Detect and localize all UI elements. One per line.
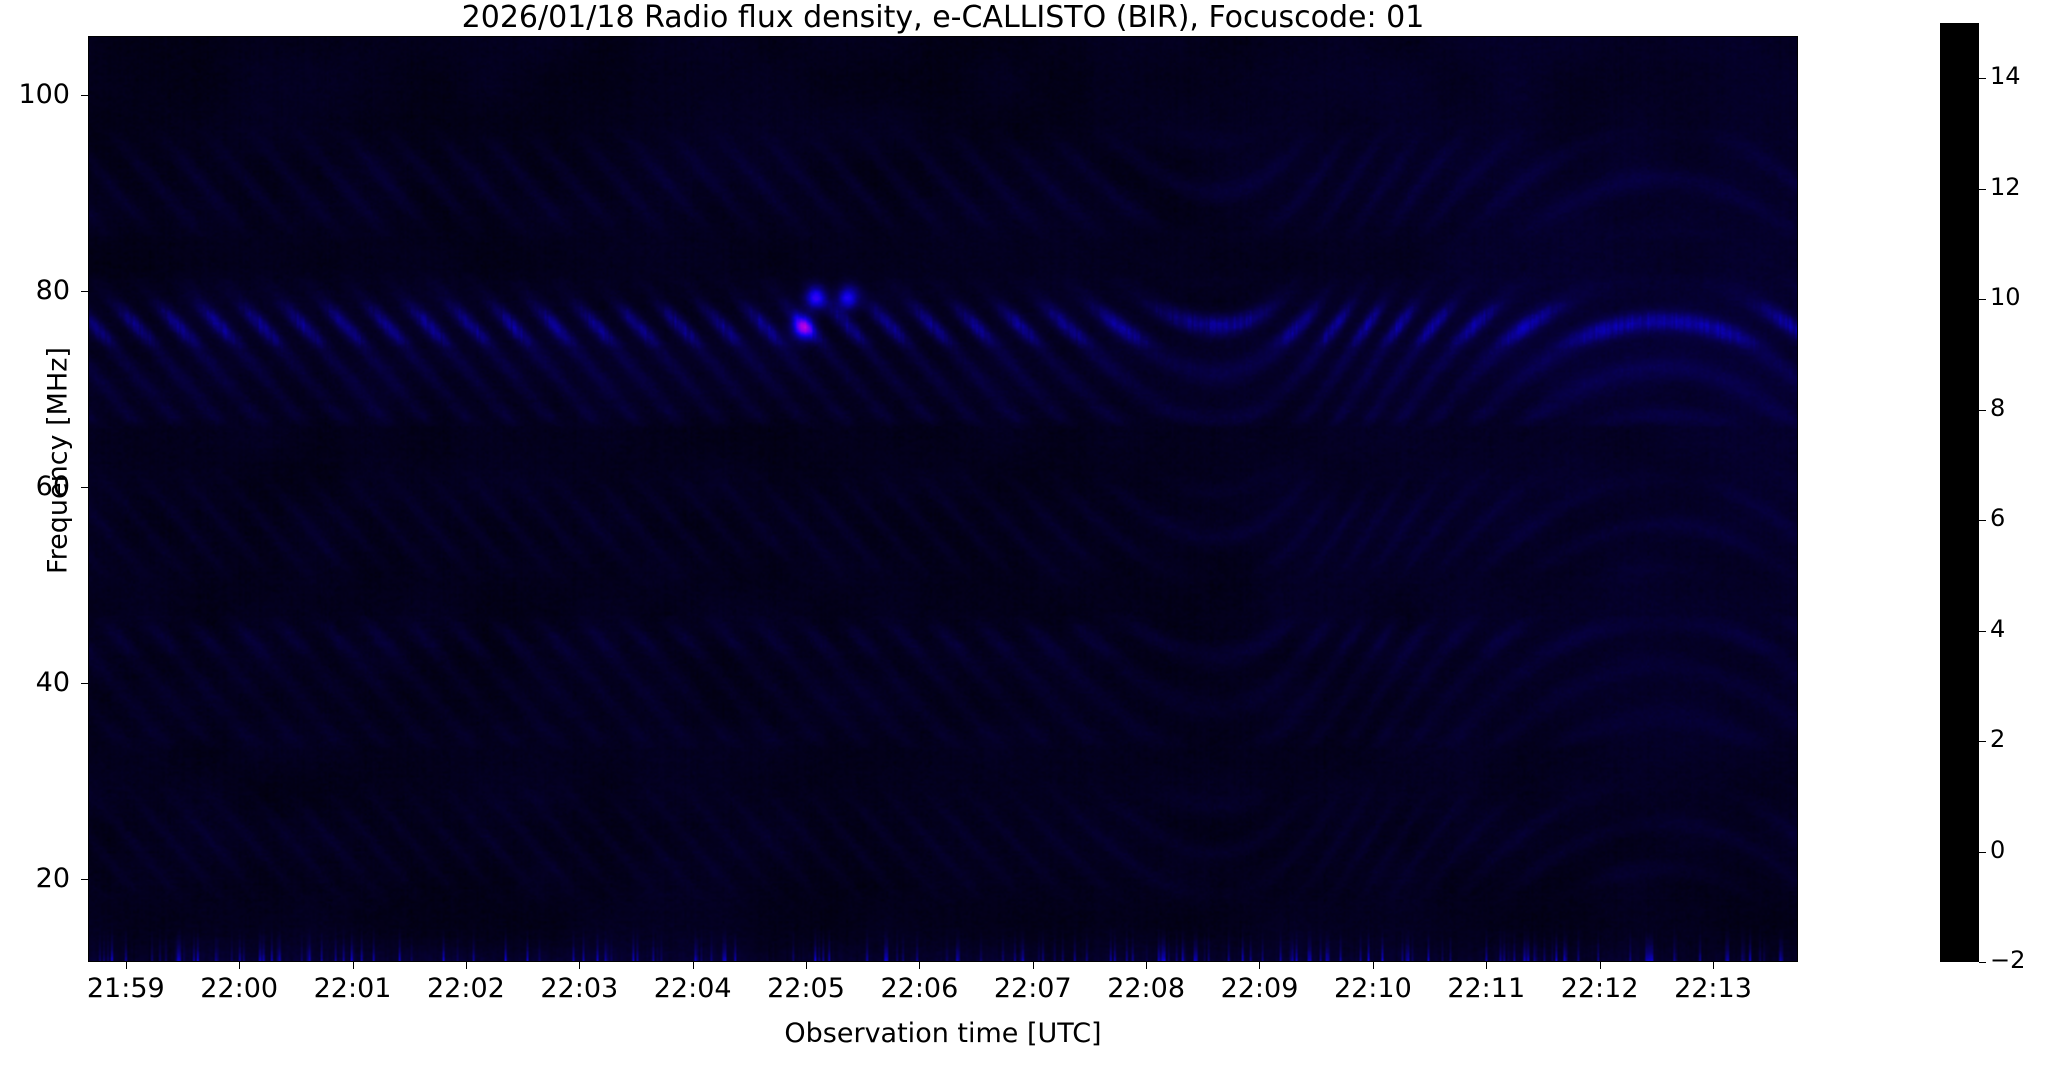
x-tick-label: 22:08: [1107, 973, 1185, 1004]
x-tick-mark: [1486, 962, 1487, 969]
colorbar-tick-label: 14: [1990, 62, 2021, 90]
colorbar-tick-mark: [1979, 852, 1986, 853]
y-tick-label: 60: [36, 471, 70, 502]
x-tick-label: 22:05: [767, 973, 845, 1004]
colorbar-tick-mark: [1979, 741, 1986, 742]
x-tick-label: 22:10: [1334, 973, 1412, 1004]
y-tick-label: 20: [36, 863, 70, 894]
y-tick-mark: [81, 683, 88, 684]
x-tick-label: 22:11: [1447, 973, 1525, 1004]
x-tick-label: 22:12: [1561, 973, 1639, 1004]
x-tick-mark: [693, 962, 694, 969]
colorbar-tick-label: 6: [1990, 504, 2005, 532]
x-tick-mark: [1713, 962, 1714, 969]
x-tick-mark: [239, 962, 240, 969]
x-tick-mark: [1373, 962, 1374, 969]
x-tick-mark: [1600, 962, 1601, 969]
y-tick-mark: [81, 879, 88, 880]
x-tick-mark: [806, 962, 807, 969]
x-tick-label: 22:03: [540, 973, 618, 1004]
colorbar-tick-mark: [1979, 520, 1986, 521]
x-tick-mark: [1259, 962, 1260, 969]
colorbar-tick-mark: [1979, 299, 1986, 300]
x-axis-label: Observation time [UTC]: [88, 1018, 1798, 1049]
x-tick-mark: [353, 962, 354, 969]
spectrogram-image: [89, 37, 1797, 961]
y-tick-mark: [81, 95, 88, 96]
colorbar-tick-mark: [1979, 78, 1986, 79]
x-tick-label: 22:07: [994, 973, 1072, 1004]
colorbar-tick-mark: [1979, 962, 1986, 963]
colorbar-gradient: [1941, 24, 1978, 961]
x-tick-label: 22:04: [654, 973, 732, 1004]
colorbar-tick-mark: [1979, 631, 1986, 632]
x-tick-mark: [1033, 962, 1034, 969]
colorbar-tick-label: 4: [1990, 615, 2005, 643]
page-title: 2026/01/18 Radio flux density, e-CALLIST…: [88, 0, 1798, 36]
y-axis-label: Frequency [MHz]: [43, 31, 74, 891]
x-tick-label: 22:13: [1674, 973, 1752, 1004]
y-tick-mark: [81, 487, 88, 488]
x-tick-mark: [126, 962, 127, 969]
colorbar-tick-label: 8: [1990, 394, 2005, 422]
x-tick-mark: [919, 962, 920, 969]
x-tick-label: 22:01: [314, 973, 392, 1004]
colorbar-tick-label: 12: [1990, 173, 2021, 201]
x-tick-mark: [1146, 962, 1147, 969]
spectrogram-plot-area[interactable]: [88, 36, 1798, 962]
colorbar[interactable]: [1940, 23, 1979, 962]
x-tick-label: 22:09: [1221, 973, 1299, 1004]
colorbar-tick-label: 0: [1990, 836, 2005, 864]
colorbar-tick-label: −2: [1990, 946, 2025, 974]
x-tick-label: 21:59: [87, 973, 165, 1004]
x-tick-mark: [579, 962, 580, 969]
y-tick-mark: [81, 291, 88, 292]
x-tick-label: 22:02: [427, 973, 505, 1004]
x-tick-label: 22:00: [200, 973, 278, 1004]
colorbar-tick-mark: [1979, 189, 1986, 190]
colorbar-tick-label: 2: [1990, 725, 2005, 753]
x-tick-label: 22:06: [880, 973, 958, 1004]
x-tick-mark: [466, 962, 467, 969]
colorbar-tick-label: 10: [1990, 283, 2021, 311]
colorbar-tick-mark: [1979, 410, 1986, 411]
y-tick-label: 40: [36, 667, 70, 698]
y-tick-label: 80: [36, 275, 70, 306]
y-tick-label: 100: [18, 79, 70, 110]
